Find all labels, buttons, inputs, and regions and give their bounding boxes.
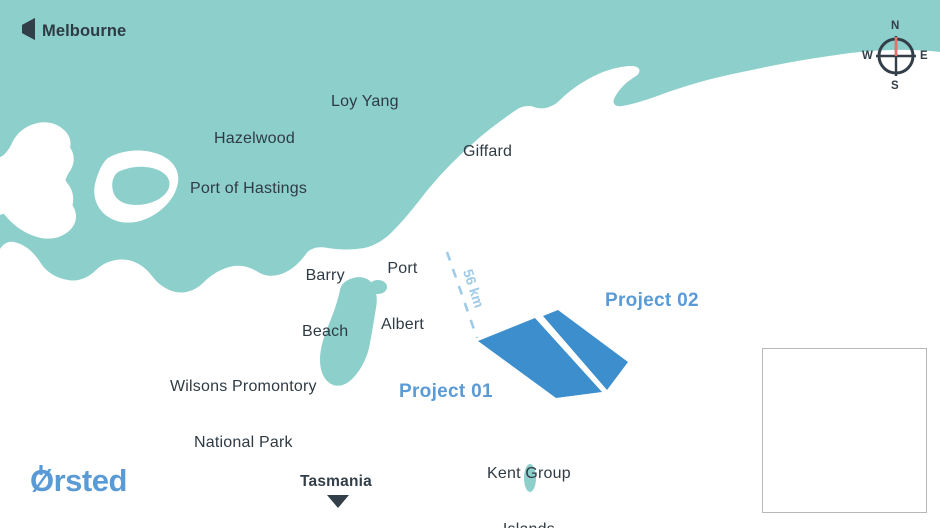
label-wilsons-promontory-line2: National Park [170,434,317,453]
label-loy-yang: Loy Yang [331,93,399,112]
label-kent-group-islands-line2: Islands [487,521,571,528]
label-barry-beach-line1: Barry [302,267,348,286]
label-kent-group-islands: Kent Group Islands [487,427,571,528]
label-wilsons-promontory: Wilsons Promontory National Park [170,340,317,491]
label-port-albert-line2: Albert [381,316,424,335]
compass-south-label: S [891,80,899,92]
orsted-logo[interactable]: Ørsted [30,462,148,498]
offshore-wind-project-map: 56 km Melbourne Loy Yang Hazelwood Port … [0,0,940,528]
label-giffard: Giffard [463,143,512,162]
phillip-island [100,223,156,247]
label-melbourne: Melbourne [42,22,126,41]
compass-east-label: E [920,50,928,62]
label-project-01[interactable]: Project 01 [399,381,493,403]
compass-north-label: N [891,20,899,32]
label-tasmania: Tasmania [300,473,372,491]
label-wilsons-promontory-line1: Wilsons Promontory [170,378,317,397]
label-port-albert-line1: Port [381,260,424,279]
label-project-02[interactable]: Project 02 [605,290,699,312]
label-hazelwood: Hazelwood [214,130,295,149]
label-port-albert: Port Albert [381,222,424,373]
compass-west-label: W [862,50,873,62]
orsted-logo-mark: Ørsted [30,462,148,500]
label-kent-group-islands-line1: Kent Group [487,465,571,484]
label-port-of-hastings: Port of Hastings [190,180,307,199]
inset-map-box [762,348,927,513]
orsted-logo-text: Ørsted [30,463,127,498]
